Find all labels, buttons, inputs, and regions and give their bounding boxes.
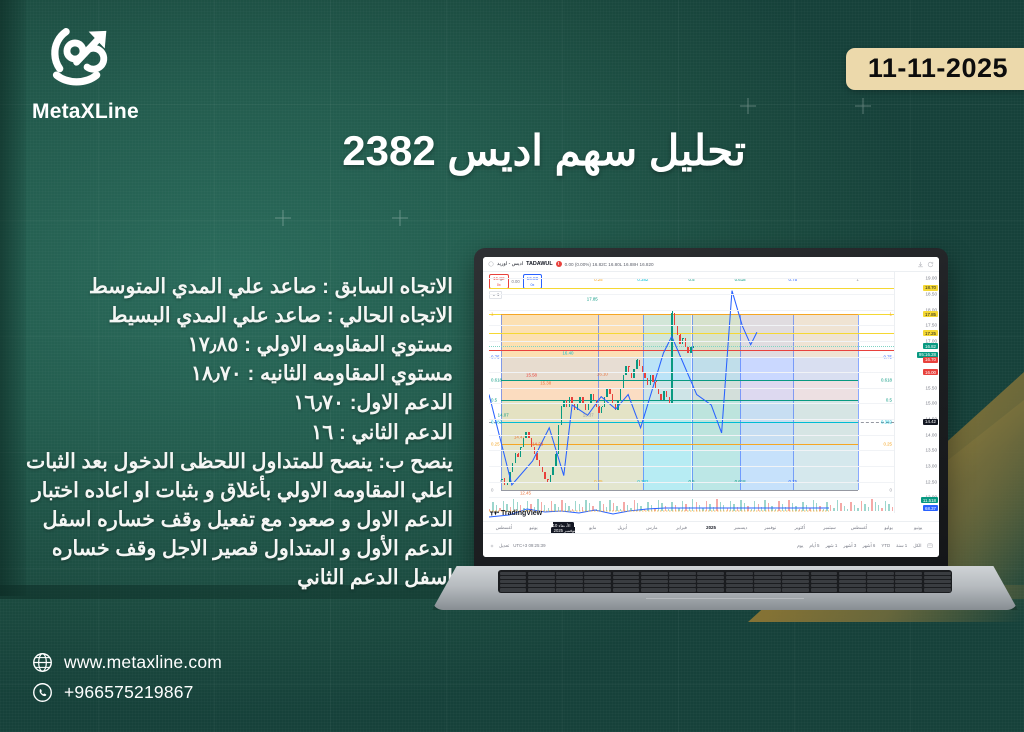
keyboard-key [613, 584, 640, 587]
keyboard-key [839, 572, 866, 575]
timezone-label[interactable]: UTC+3 09:25:39 [513, 543, 545, 548]
keyboard-key [528, 580, 555, 583]
tradingview-chart[interactable]: اديس - اوريد TADAWUL ! 0.00 (0.00%) 16.8… [483, 257, 939, 557]
keyboard-key [500, 572, 527, 575]
keyboard-key [782, 580, 809, 583]
contact-whatsapp[interactable]: +966575219867 [32, 682, 222, 703]
volume-bar [837, 500, 838, 511]
keyboard-key [839, 588, 866, 591]
keyboard-key [584, 580, 611, 583]
keyboard-key [754, 584, 781, 587]
keyboard-key [811, 588, 838, 591]
brand-name: MetaXLine [32, 100, 180, 124]
keyboard-key [782, 576, 809, 579]
date-tick[interactable]: يونيو [519, 525, 549, 531]
tradingview-glyph-icon [490, 510, 499, 517]
gridline [489, 403, 894, 404]
website-text: www.metaxline.com [64, 652, 222, 673]
keyboard-key [556, 576, 583, 579]
analysis-line: الدعم الاول: ١٦٫٧٠ [23, 388, 453, 417]
volume-bar [844, 506, 845, 511]
timeframe-button[interactable]: 5 أيام [808, 543, 821, 549]
plus-marker-icon [392, 210, 408, 226]
keyboard-row [500, 588, 951, 591]
gridline [489, 294, 894, 295]
keyboard-key [528, 584, 555, 587]
price-tag[interactable]: 16.82 [923, 343, 938, 349]
metaxline-arrow-logo-icon [38, 22, 120, 96]
price-annotation: 17.85 [587, 296, 598, 301]
keyboard-key [895, 584, 922, 587]
date-tick[interactable]: فبراير [667, 525, 697, 531]
globe-icon [32, 652, 53, 673]
keyboard-key [895, 572, 922, 575]
price-tag[interactable]: 18.70 [923, 285, 938, 291]
page-title: تحليل سهم اديس 2382 [342, 126, 746, 175]
volume-bar [868, 507, 869, 511]
keyboard-key [613, 572, 640, 575]
contact-website[interactable]: www.metaxline.com [32, 652, 222, 673]
timeframe-buttons[interactable]: الكل1 سنةYTD6 أشهر3 أشهر1 شهر5 أياميوم [796, 543, 923, 549]
price-annotation: 15.38 [540, 381, 551, 386]
keyboard-key [867, 576, 894, 579]
keyboard-key [697, 584, 724, 587]
keyboard-key [726, 576, 753, 579]
keyboard-key [641, 588, 668, 591]
volume-bar [854, 505, 855, 511]
adjust-label[interactable]: تعديل [499, 543, 509, 549]
zigzag-overlay [489, 272, 894, 513]
volume-bar [864, 504, 865, 511]
price-tick: 19.00 [926, 276, 938, 281]
keyboard-key [500, 580, 527, 583]
ohlc-values: 0.00 (0.00%) 16.82C 16.80L 16.88H 16.820 [565, 262, 654, 267]
volume-bar [850, 502, 851, 511]
keyboard-key [811, 580, 838, 583]
plus-marker-icon [740, 98, 756, 114]
analysis-line: مستوي المقاومه الاولي : ١٧٫٨٥ [23, 330, 453, 359]
date-tick[interactable]: أبريل [607, 525, 637, 531]
price-annotation: 15.37 [583, 413, 594, 418]
keyboard-key [839, 580, 866, 583]
current-date-badge: الأربعاء 10 نوفمبر 2025 [551, 522, 576, 534]
whatsapp-text: +966575219867 [64, 682, 194, 703]
price-annotation: 14.47 [514, 435, 525, 440]
timeframe-button[interactable]: 3 أشهر [842, 543, 858, 549]
keyboard-key [669, 580, 696, 583]
keyboard-key [867, 572, 894, 575]
price-tag[interactable]: 14.42 [923, 419, 938, 425]
keyboard-key [867, 588, 894, 591]
keyboard-key [697, 588, 724, 591]
date-axis[interactable]: يونيويوليوأغسطسسبتمبرأكتوبرنوفمبرديسمبر2… [483, 521, 939, 533]
timeframe-button[interactable]: الكل [912, 543, 923, 549]
gridline [489, 278, 894, 279]
volume-bar [861, 501, 862, 511]
keyboard-key [726, 588, 753, 591]
whatsapp-icon [32, 682, 53, 703]
price-tick: 15.00 [926, 401, 938, 406]
volume-bar [881, 508, 882, 511]
chart-header: اديس - اوريد TADAWUL ! 0.00 (0.00%) 16.8… [483, 257, 939, 272]
keyboard-key [641, 576, 668, 579]
date-tick[interactable]: سبتمبر [815, 525, 845, 531]
keyboard-key [500, 588, 527, 591]
gridline [489, 341, 894, 342]
analysis-line: الاتجاه الحالي : صاعد علي المدي البسيط [23, 301, 453, 330]
gridline [489, 466, 894, 467]
laptop-trackpad-edge [646, 598, 804, 599]
laptop-screen: اديس - اوريد TADAWUL ! 0.00 (0.00%) 16.8… [483, 257, 939, 557]
symbol-arabic: اديس - اوريد [497, 261, 523, 267]
chart-plot-area[interactable]: 110.750.750.6180.6180.50.50.3820.3820.25… [483, 272, 939, 513]
analysis-line: الدعم الثاني : ١٦ [23, 418, 453, 447]
keyboard-key [811, 584, 838, 587]
keyboard-key [754, 572, 781, 575]
keyboard-key [726, 580, 753, 583]
eye-icon[interactable] [488, 261, 494, 267]
price-axis[interactable]: 19.0018.5018.0017.5017.0016.5016.0015.50… [894, 272, 939, 513]
volume-bar [878, 505, 879, 511]
keyboard-key [924, 580, 951, 583]
keyboard-key [754, 580, 781, 583]
keyboard-key [584, 572, 611, 575]
laptop-mockup: اديس - اوريد TADAWUL ! 0.00 (0.00%) 16.8… [432, 248, 1018, 648]
keyboard-key [641, 580, 668, 583]
keyboard-key [584, 588, 611, 591]
symbol-name: TADAWUL [526, 261, 553, 267]
analysis-advice: ينصح ب: ينصح للمتداول اللحظى الدخول بعد … [23, 447, 453, 593]
keyboard-key [697, 572, 724, 575]
volume-bar [847, 509, 848, 511]
keyboard-key [669, 588, 696, 591]
price-tick: 13.00 [926, 464, 938, 469]
keyboard-key [726, 584, 753, 587]
keyboard-key [895, 576, 922, 579]
keyboard-key [500, 576, 527, 579]
laptop-keyboard [498, 570, 952, 593]
date-tick[interactable]: مارس [637, 525, 667, 531]
keyboard-key [839, 584, 866, 587]
keyboard-row [500, 584, 951, 587]
keyboard-key [697, 580, 724, 583]
poster-canvas: MetaXLine 11-11-2025 تحليل سهم اديس 2382… [0, 0, 1024, 732]
date-tick-current: الأربعاء 10 نوفمبر 2025 [548, 523, 578, 533]
price-tag[interactable]: 11.518 [921, 497, 938, 503]
price-tick: 17.50 [926, 323, 938, 328]
plus-marker-icon [275, 210, 291, 226]
timeframe-button[interactable]: 1 سنة [895, 543, 909, 549]
timeframe-button[interactable]: 1 شهر [824, 543, 839, 549]
keyboard-key [556, 584, 583, 587]
keyboard-key [556, 588, 583, 591]
keyboard-row [500, 576, 951, 579]
keyboard-key [556, 580, 583, 583]
gridline [489, 419, 894, 420]
gridline [489, 310, 894, 311]
download-icon[interactable] [917, 261, 924, 268]
price-tick: 18.50 [926, 291, 938, 296]
keyboard-key [754, 588, 781, 591]
keyboard-key [839, 576, 866, 579]
keyboard-key [500, 584, 527, 587]
keyboard-key [528, 576, 555, 579]
date-tick[interactable]: أغسطس [844, 525, 874, 531]
chart-footer: تعديل UTC+3 09:25:39 الكل1 سنةYTD6 أشهر3… [483, 533, 939, 557]
gridline [489, 325, 894, 326]
analysis-text-block: الاتجاه السابق : صاعد علي المدي المتوسط … [23, 272, 453, 592]
keyboard-key [924, 588, 951, 591]
gridline [489, 435, 894, 436]
date-tick[interactable]: أغسطس [489, 525, 519, 531]
date-badge: 11-11-2025 [846, 48, 1024, 90]
volume-bar [888, 504, 889, 511]
gridline [489, 450, 894, 451]
tradingview-wordmark: TradingView [501, 510, 542, 517]
price-tag[interactable]: 17.85 [923, 311, 938, 317]
price-tick: 15.50 [926, 385, 938, 390]
keyboard-key [669, 584, 696, 587]
keyboard-key [811, 576, 838, 579]
keyboard-key [924, 584, 951, 587]
volume-bar [875, 502, 876, 511]
brand-logo: MetaXLine [30, 22, 180, 124]
keyboard-key [528, 572, 555, 575]
keyboard-key [613, 588, 640, 591]
analysis-line: الاتجاه السابق : صاعد علي المدي المتوسط [23, 272, 453, 301]
price-tick: 14.00 [926, 432, 938, 437]
keyboard-key [782, 572, 809, 575]
price-tag[interactable]: 68.37 [923, 505, 938, 511]
timeframe-button[interactable]: يوم [796, 543, 805, 549]
keyboard-key [924, 576, 951, 579]
keyboard-key [726, 572, 753, 575]
date-tick[interactable]: 2025 [696, 525, 726, 530]
keyboard-row [500, 572, 951, 575]
keyboard-key [697, 576, 724, 579]
keyboard-key [613, 576, 640, 579]
date-tick[interactable]: نوفمبر [755, 525, 785, 531]
date-tick[interactable]: مايو [578, 525, 608, 531]
timeframe-button[interactable]: 6 أشهر [861, 543, 877, 549]
tradingview-logo: TradingView [490, 510, 542, 517]
laptop-lid: اديس - اوريد TADAWUL ! 0.00 (0.00%) 16.8… [474, 248, 948, 570]
price-tag[interactable]: 16.70 [923, 357, 938, 363]
keyboard-key [895, 580, 922, 583]
price-annotation: 14.07 [498, 413, 509, 418]
volume-bar [830, 505, 831, 511]
price-tick: 13.50 [926, 448, 938, 453]
calendar-icon[interactable] [927, 542, 933, 549]
alert-badge[interactable]: ! [556, 261, 562, 267]
keyboard-key [754, 576, 781, 579]
keyboard-key [641, 572, 668, 575]
refresh-icon[interactable] [927, 261, 934, 268]
volume-bar [833, 508, 834, 511]
gridline [489, 388, 894, 389]
volume-bar [871, 499, 872, 511]
price-tag[interactable]: 17.25 [923, 330, 938, 336]
keyboard-key [867, 580, 894, 583]
contact-block: www.metaxline.com +966575219867 [32, 652, 222, 712]
keyboard-key [867, 584, 894, 587]
keyboard-key [669, 576, 696, 579]
keyboard-key [613, 580, 640, 583]
gridline [489, 482, 894, 483]
keyboard-key [528, 588, 555, 591]
keyboard-key [556, 572, 583, 575]
keyboard-key [811, 572, 838, 575]
volume-bar [892, 507, 893, 511]
date-tick[interactable]: يونيو [903, 525, 933, 531]
plus-marker-icon [855, 98, 871, 114]
volume-bar [840, 503, 841, 511]
keyboard-key [584, 584, 611, 587]
price-annotation: 16.40 [562, 350, 573, 355]
price-annotation: 14.23 [532, 441, 543, 446]
keyboard-key [641, 584, 668, 587]
timeframe-button[interactable]: YTD [880, 543, 892, 549]
date-tick[interactable]: ديسمبر [726, 525, 756, 531]
plot-canvas: 110.750.750.6180.6180.50.50.3820.3820.25… [489, 272, 894, 513]
price-tag[interactable]: 16.00 [923, 369, 938, 375]
keyboard-row [500, 580, 951, 583]
volume-bar [857, 508, 858, 511]
keyboard-key [895, 588, 922, 591]
date-tick[interactable]: يوليو [874, 525, 904, 531]
gridline [489, 357, 894, 358]
analysis-line: مستوي المقاومه الثانيه : ١٨٫٧٠ [23, 359, 453, 388]
keyboard-key [669, 572, 696, 575]
volume-bar [885, 501, 886, 511]
date-tick[interactable]: أكتوبر [785, 525, 815, 531]
keyboard-key [782, 588, 809, 591]
keyboard-key [584, 576, 611, 579]
settings-icon[interactable] [489, 543, 495, 549]
gridline [489, 372, 894, 373]
keyboard-key [782, 584, 809, 587]
price-annotation: 15.58 [526, 372, 537, 377]
price-tick: 12.50 [926, 479, 938, 484]
keyboard-key [924, 572, 951, 575]
